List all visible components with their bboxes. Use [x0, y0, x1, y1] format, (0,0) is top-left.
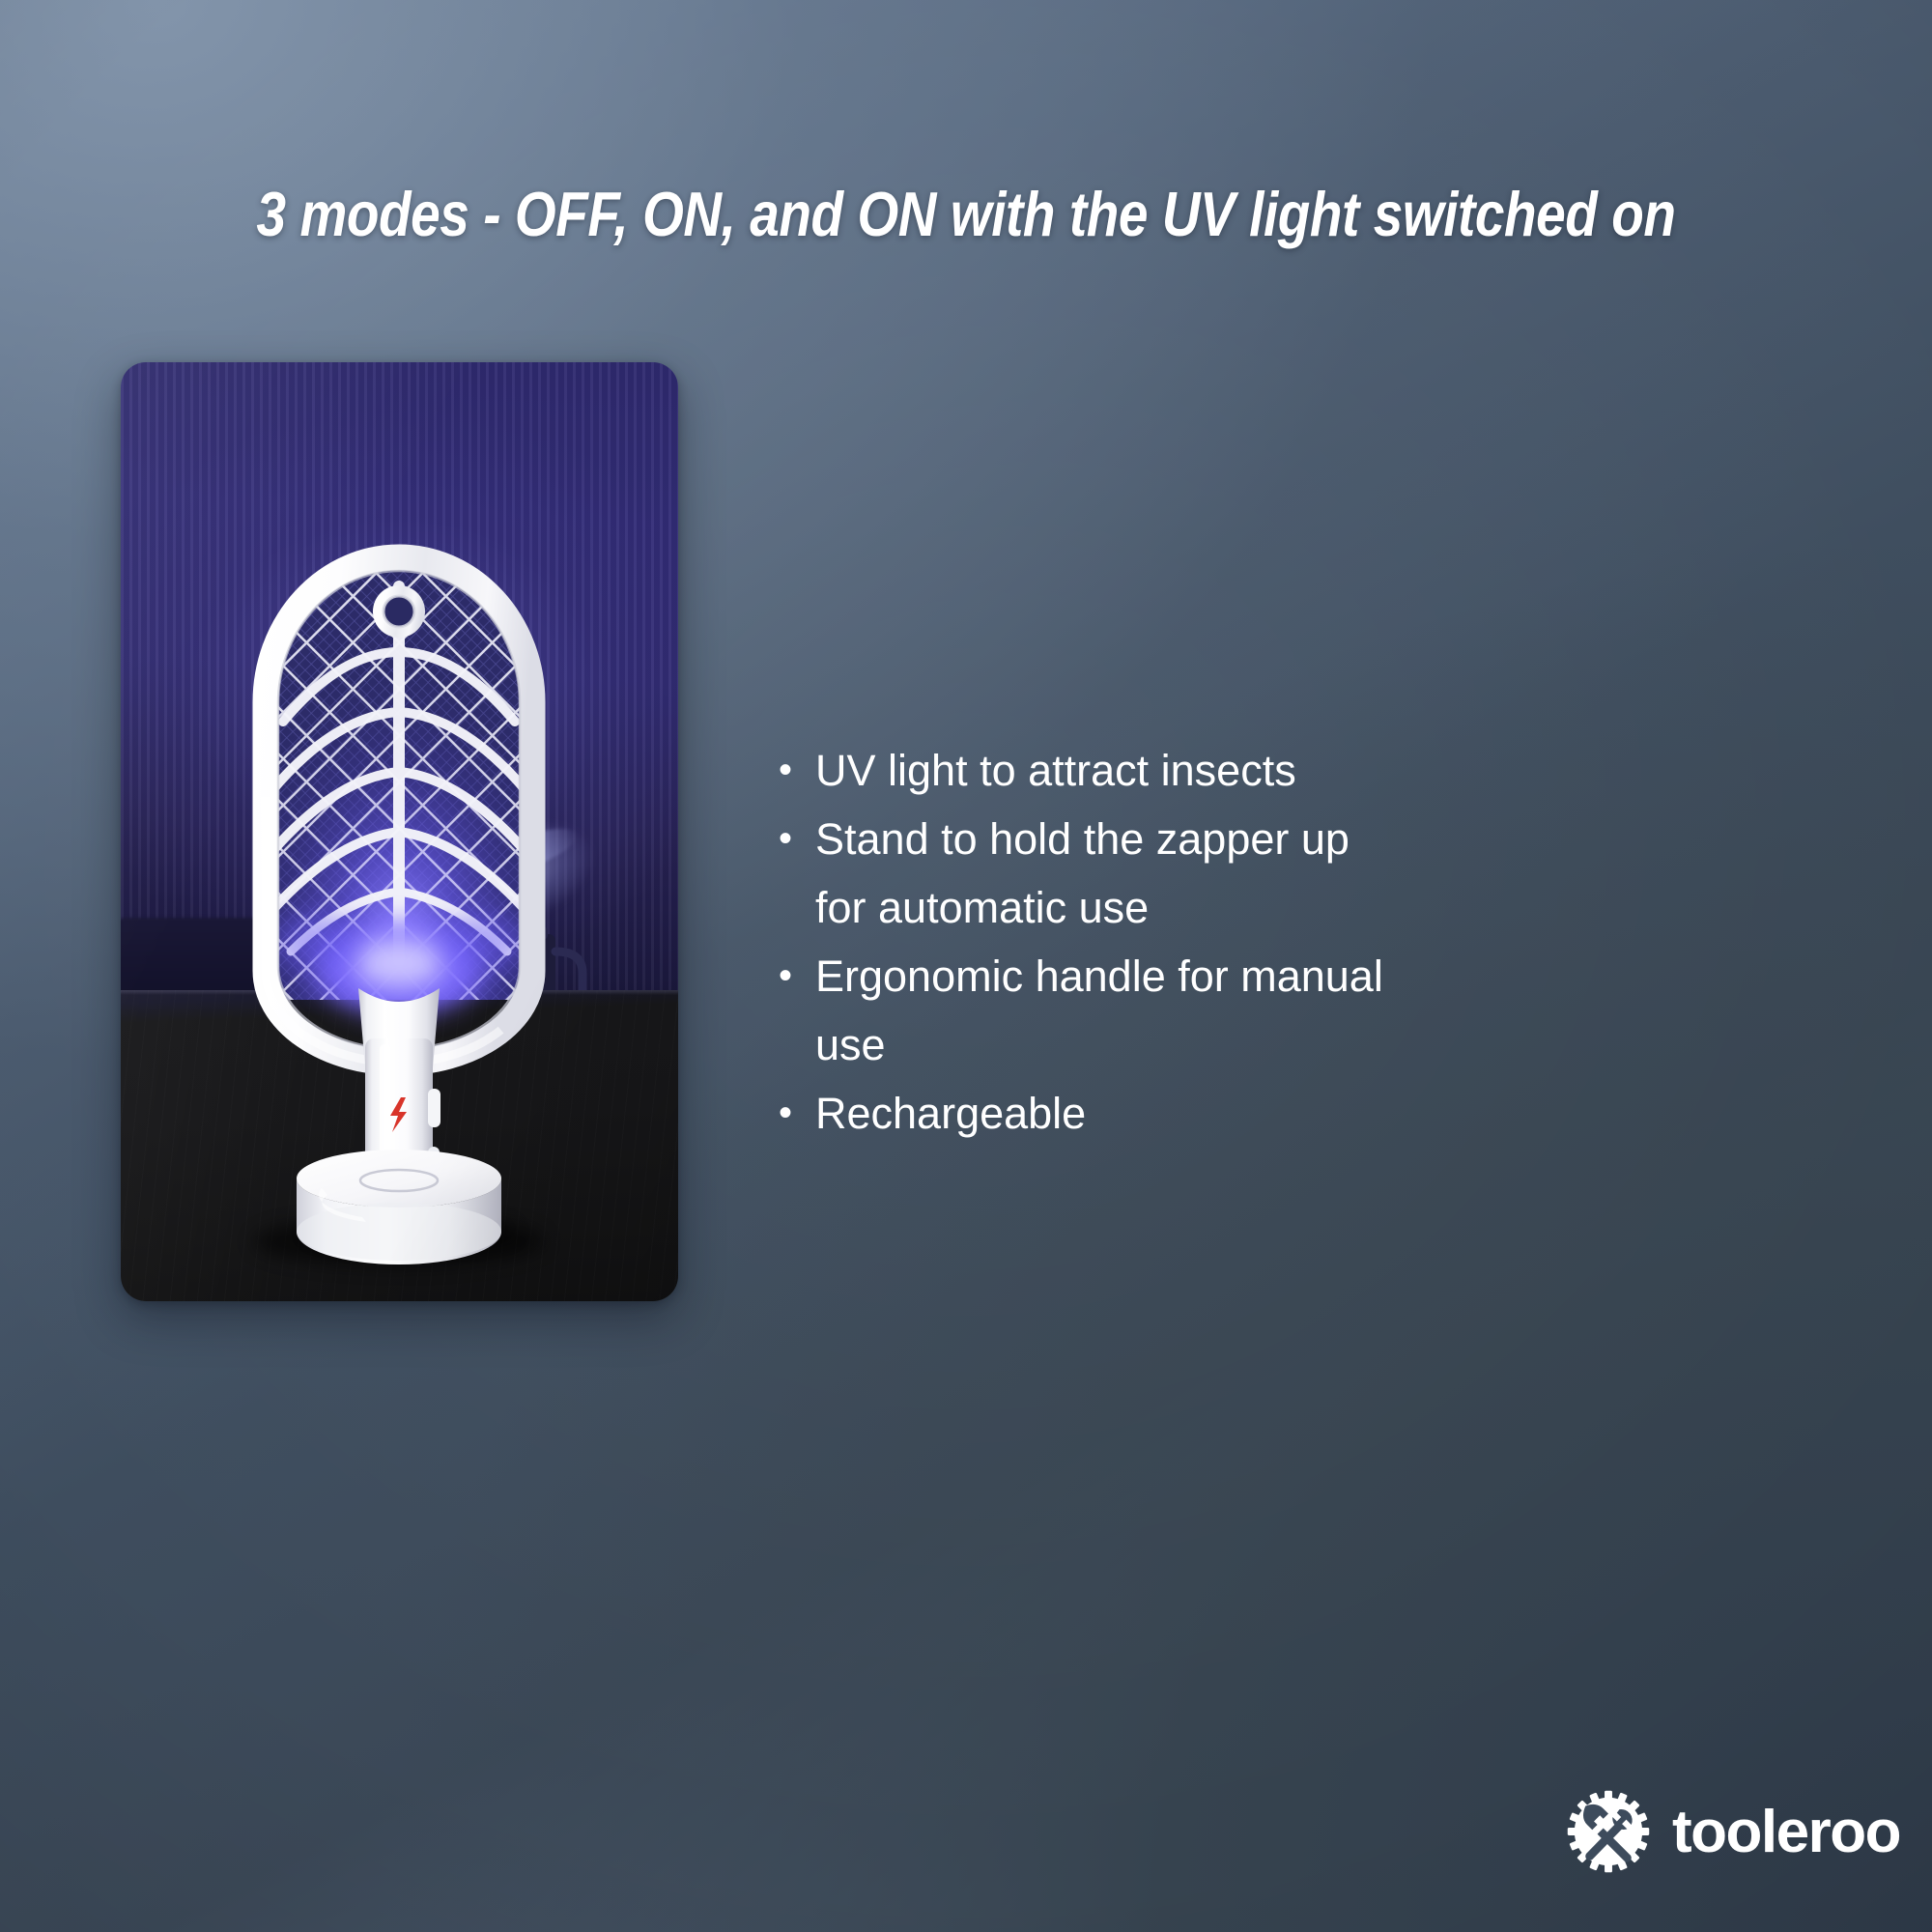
power-switch-button[interactable]: [428, 1089, 440, 1127]
page-title: 3 modes - OFF, ON, and ON with the UV li…: [150, 178, 1782, 250]
hang-hole: [373, 585, 425, 638]
bullet-glyph: •: [775, 805, 815, 873]
charging-stand-base: [297, 1150, 501, 1264]
list-item: • Rechargeable: [775, 1079, 1393, 1148]
brand-logo[interactable]: tooleroo: [1566, 1789, 1900, 1874]
feature-text: Rechargeable: [815, 1079, 1393, 1148]
feature-list: • UV light to attract insects • Stand to…: [775, 736, 1393, 1148]
brand-name: tooleroo: [1672, 1798, 1900, 1866]
feature-text: Stand to hold the zapper up for automati…: [815, 805, 1393, 942]
list-item: • Ergonomic handle for manual use: [775, 942, 1393, 1079]
gear-with-hammer-and-wrench-icon: [1566, 1789, 1651, 1874]
product-image-card: [121, 362, 678, 1301]
racket-head: [246, 546, 555, 1063]
list-item: • UV light to attract insects: [775, 736, 1393, 805]
bullet-glyph: •: [775, 736, 815, 805]
bug-zapper-racket: [121, 362, 678, 1301]
list-item: • Stand to hold the zapper up for automa…: [775, 805, 1393, 942]
bullet-glyph: •: [775, 942, 815, 1010]
bullet-glyph: •: [775, 1079, 815, 1148]
uv-light-glow: [271, 913, 528, 1015]
feature-text: Ergonomic handle for manual use: [815, 942, 1393, 1079]
feature-text: UV light to attract insects: [815, 736, 1393, 805]
